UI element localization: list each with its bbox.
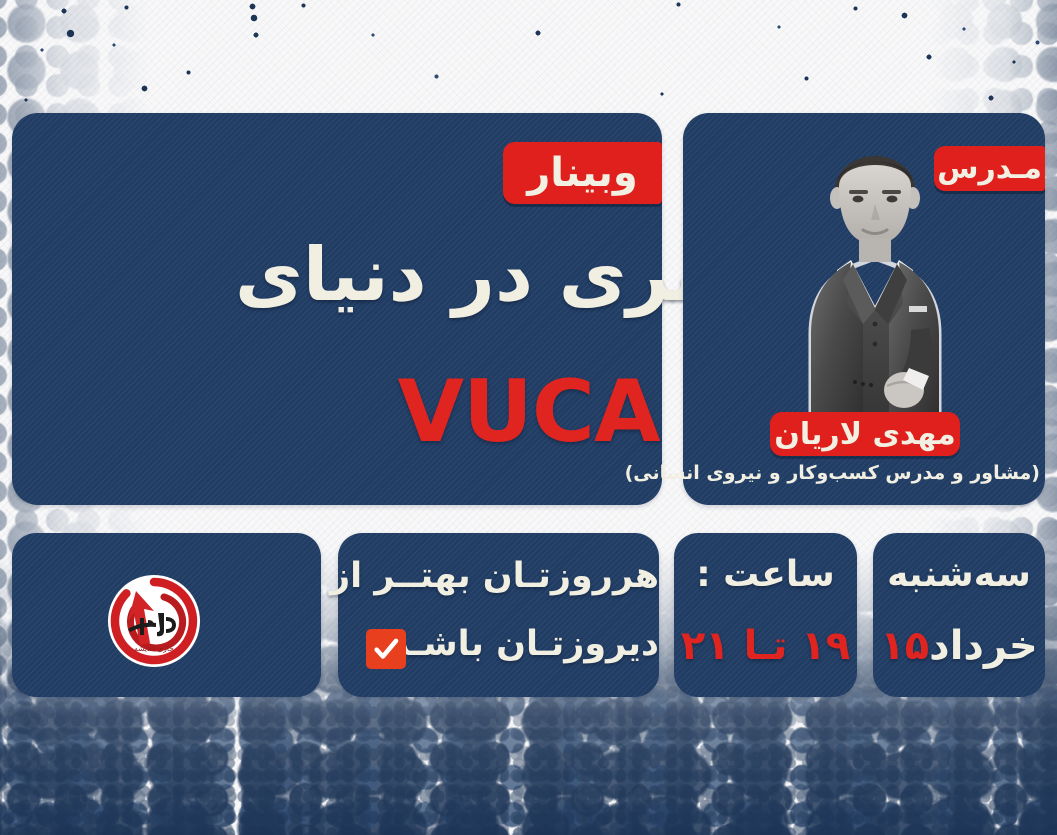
date-weekday-label: سه‌شنبه (873, 554, 1045, 595)
motto-line-1: هرروزتـان بهتــر از (338, 556, 659, 596)
webinar-badge: وبینار (503, 142, 662, 204)
date-value: خرداد۱۵ (873, 623, 1045, 669)
svg-text:جاری اندیشه: جاری اندیشه (134, 644, 174, 653)
instructor-badge: مـدرس (934, 146, 1045, 191)
farasoozan-logo-icon: جاری اندیشه (106, 573, 202, 669)
date-day: ۱۵ (880, 623, 929, 669)
date-month: خرداد (929, 623, 1037, 669)
time-label: ساعت : (674, 554, 857, 595)
time-value: ۱۹ تـا ۲۱ (674, 623, 857, 669)
poster-canvas: وبینار رهـبری در دنیای VUCA (0, 0, 1057, 835)
speaker-name-badge: مهدی لاریان (770, 412, 960, 456)
check-icon (366, 629, 406, 669)
speaker-role-subtitle: (مشاور و مدرس کسب‌وکار و نیروی انسانی) (690, 462, 1040, 484)
